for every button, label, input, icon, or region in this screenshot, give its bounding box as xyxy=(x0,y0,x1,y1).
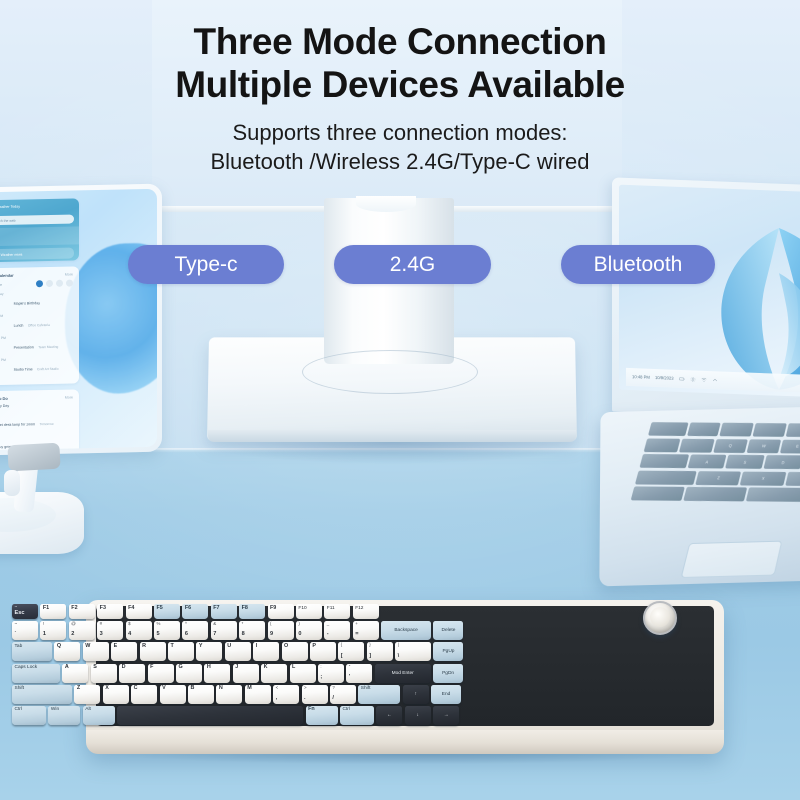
calendar-event-row[interactable]: 2:30 PM Presentation Team Meeting xyxy=(0,334,73,354)
calendar-widget-header: Calendar More xyxy=(0,271,73,278)
keycap-label: ↑ xyxy=(414,692,416,697)
keycap-label: → xyxy=(444,713,449,718)
weather-widget-title: Weather Today xyxy=(0,203,74,209)
keycap-3[interactable]: #3 xyxy=(97,621,123,640)
keycap-label: Shift xyxy=(15,686,25,691)
taskbar-clock[interactable]: 10:48 PM xyxy=(632,374,650,380)
keyboard-row-qwerty-row: TabQWERTYUIOP{[}]|\PgUp xyxy=(12,642,632,661)
keycap-label: G xyxy=(178,665,182,671)
calendar-widget[interactable]: Calendar More October All day xyxy=(0,266,79,385)
calendar-event-row[interactable]: 12 PM Lunch Office Cafeteria xyxy=(0,312,73,332)
volume-knob-inner xyxy=(650,607,670,627)
pill-2-4g[interactable]: 2.4G xyxy=(334,245,491,284)
keycap-secondary-legend: } xyxy=(369,643,370,648)
keycap-label: F2 xyxy=(71,606,77,612)
keycap-f9[interactable]: F9 xyxy=(268,604,294,619)
keycap-primary-legend: 4 xyxy=(128,632,131,638)
keycap-tab[interactable]: Tab xyxy=(12,642,52,661)
keycap-f7[interactable]: F7 xyxy=(211,604,237,619)
keycap-[interactable]: += xyxy=(353,621,379,640)
keycap-label: F5 xyxy=(156,606,162,612)
headline-block: Three Mode Connection Multiple Devices A… xyxy=(0,20,800,176)
keycap-secondary-legend: { xyxy=(341,643,342,648)
keycap-label: F1 xyxy=(43,606,49,612)
keycap-primary-legend: 3 xyxy=(100,632,103,638)
keycap-primary-legend: . xyxy=(304,696,306,702)
keycap-p[interactable]: P xyxy=(310,642,336,661)
keycap-r[interactable]: R xyxy=(140,642,166,661)
calendar-more-label[interactable]: More xyxy=(65,272,73,276)
keycap-secondary-legend: _ xyxy=(327,622,329,627)
keycap-ctrl[interactable]: Ctrl xyxy=(12,706,46,725)
keycap-l[interactable]: L xyxy=(290,664,316,683)
keycap-g[interactable]: G xyxy=(176,664,202,683)
show-hidden-icons-icon[interactable] xyxy=(712,377,718,383)
keycap-primary-legend: ] xyxy=(369,654,371,660)
keycap-primary-legend: 9 xyxy=(270,632,273,638)
todo-list-name: My Day xyxy=(0,404,9,409)
keycap-label: ↓ xyxy=(417,713,419,718)
todo-item-due: Tomorrow xyxy=(40,422,54,426)
laptop-key[interactable] xyxy=(746,487,800,501)
keycap-primary-legend: / xyxy=(332,696,334,702)
todo-widget-title: To Do xyxy=(0,395,62,401)
keycap-m[interactable]: M xyxy=(245,685,271,704)
laptop-key-row xyxy=(631,486,800,502)
keycap-win[interactable]: Win xyxy=(48,706,80,725)
keycap-[interactable]: ← xyxy=(376,706,402,725)
keycap-[interactable]: ~` xyxy=(12,621,38,640)
keycap-2[interactable]: @2 xyxy=(69,621,95,640)
event-time: 12 PM xyxy=(0,314,11,319)
todo-item[interactable]: Get desk lamp for zoom Tomorrow xyxy=(0,411,73,431)
laptop-key[interactable] xyxy=(679,438,714,452)
keycap-primary-legend: = xyxy=(355,632,358,638)
keyboard-row-shift-row: ShiftZXCVBNM<,>.?/Shift↑End xyxy=(12,685,632,704)
keycap-primary-legend: - xyxy=(327,632,329,638)
keycap-label: Ctrl xyxy=(342,707,349,712)
event-name: Presentation xyxy=(14,345,34,349)
keycap-label: Q xyxy=(57,644,61,650)
keycap-secondary-legend: ~ xyxy=(15,605,18,610)
keycap-label: M xyxy=(247,686,252,692)
laptop-key[interactable] xyxy=(644,438,681,452)
widgets-panel: Weather Today Search the web More Weathe… xyxy=(0,198,79,451)
keycap-esc[interactable]: ~Esc xyxy=(12,604,38,619)
keycap-f5[interactable]: F5 xyxy=(154,604,180,619)
keyboard-row-bottom-row: CtrlWinAltFnCtrl←↓→ xyxy=(12,706,632,725)
settings-icon[interactable] xyxy=(690,376,696,382)
laptop-key[interactable] xyxy=(720,423,754,437)
keycap-secondary-legend: % xyxy=(156,622,160,627)
keycap-label: P xyxy=(312,644,316,650)
keycap-label: R xyxy=(142,644,146,650)
keycap-label: A xyxy=(65,665,69,671)
keycap-[interactable]: <, xyxy=(273,685,299,704)
keycap-x[interactable]: X xyxy=(103,685,129,704)
web-search-input[interactable]: Search the web xyxy=(0,214,74,225)
laptop-screen: 10:48 PM 10/8/2023 xyxy=(619,185,800,399)
laptop-touchpad[interactable] xyxy=(681,541,783,578)
subhead-line-2: Bluetooth /Wireless 2.4G/Type-C wired xyxy=(0,147,800,176)
keycap-f8[interactable]: F8 xyxy=(239,604,265,619)
keycap-b[interactable]: B xyxy=(188,685,214,704)
monitor-column-highlight xyxy=(356,196,416,212)
keycap-i[interactable]: I xyxy=(253,642,279,661)
keycap-primary-legend: \ xyxy=(398,654,400,660)
keycap-primary-legend: 7 xyxy=(213,632,216,638)
laptop-base: Q W E R T A S D F G Z X C V xyxy=(599,406,800,587)
calendar-widget-title: Calendar xyxy=(0,272,62,278)
keycap-c[interactable]: C xyxy=(131,685,157,704)
tablet-device: Weather Today Search the web More Weathe… xyxy=(0,184,162,457)
keycap-5[interactable]: %5 xyxy=(154,621,180,640)
keycap-label: Win xyxy=(51,707,59,712)
keycap-primary-legend: 2 xyxy=(71,632,74,638)
tablet-screen: Weather Today Search the web More Weathe… xyxy=(0,189,157,452)
keycap-label: ← xyxy=(387,713,392,718)
event-name: Lunch xyxy=(14,324,24,328)
event-text: Presentation Team Meeting xyxy=(14,334,73,353)
laptop-key[interactable]: C xyxy=(785,471,800,485)
keycap-backspace[interactable]: Backspace xyxy=(381,621,431,640)
keycap-primary-legend: Esc xyxy=(15,611,25,617)
laptop-key[interactable] xyxy=(639,454,688,468)
keycap-label: F8 xyxy=(242,606,248,612)
keycap-label: F4 xyxy=(128,606,134,612)
keyboard-front-bezel xyxy=(86,730,724,754)
keycap-label: PgUp xyxy=(442,649,454,654)
keycap-1[interactable]: !1 xyxy=(40,621,66,640)
todo-widget[interactable]: To Do More My Day Get desk lamp for zoom… xyxy=(0,389,79,451)
keycap-q[interactable]: Q xyxy=(54,642,80,661)
todo-widget-header: To Do More xyxy=(0,394,73,401)
keycap-e[interactable]: E xyxy=(111,642,137,661)
event-sub: Craft Art Studio xyxy=(37,367,59,371)
keycap-label: End xyxy=(442,692,451,697)
pill-bluetooth[interactable]: Bluetooth xyxy=(561,245,715,284)
keycap-primary-legend: 5 xyxy=(156,632,159,638)
keycap-[interactable]: ↓ xyxy=(405,706,431,725)
keycap-label: Backspace xyxy=(394,628,417,633)
laptop-key[interactable]: D xyxy=(763,455,800,469)
calendar-day[interactable] xyxy=(66,279,73,286)
keycap-[interactable]: _- xyxy=(324,621,350,640)
laptop-keyboard[interactable]: Q W E R T A S D F G Z X C V xyxy=(622,422,800,535)
keycap-f12[interactable]: F12 xyxy=(353,604,379,619)
calendar-date-strip: October xyxy=(0,279,73,288)
keycap-alt[interactable]: Alt xyxy=(83,706,115,725)
event-name: Maple's Birthday xyxy=(14,301,40,306)
keycap-label: N xyxy=(219,686,223,692)
keycap-label: K xyxy=(264,665,268,671)
keycap-secondary-legend: ( xyxy=(270,622,271,627)
keycap-primary-legend: ' xyxy=(349,675,350,681)
product-marketing-image: Weather Today Search the web More Weathe… xyxy=(0,0,800,800)
keycap-primary-legend: , xyxy=(276,696,278,702)
keycap-w[interactable]: W xyxy=(83,642,109,661)
tablet-stand-clip xyxy=(4,470,20,496)
weather-widget-header: Weather Today xyxy=(0,198,79,214)
keycap-label: F xyxy=(150,665,153,671)
keycap-primary-legend: [ xyxy=(341,654,343,660)
keycap-[interactable]: :; xyxy=(318,664,344,683)
keyboard-row-function-row: ~EscF1F2F3F4F5F6F7F8F9F10F11F12 xyxy=(12,604,632,619)
keycap-label: W xyxy=(85,644,90,650)
keycap-label: F12 xyxy=(355,606,363,611)
event-text: Maple's Birthday xyxy=(14,290,73,309)
laptop-key[interactable]: A xyxy=(687,454,726,468)
keycap-[interactable]: }] xyxy=(367,642,393,661)
keycap-f11[interactable]: F11 xyxy=(324,604,350,619)
laptop-key[interactable]: E xyxy=(780,439,800,453)
keycap-secondary-legend: ~ xyxy=(15,622,18,627)
keycap-secondary-legend: ) xyxy=(298,622,299,627)
event-time: 2:30 PM xyxy=(0,336,11,341)
keycap-shift[interactable]: Shift xyxy=(358,685,400,704)
keycap-pgdn[interactable]: PgDn xyxy=(433,664,463,683)
calendar-day[interactable] xyxy=(46,280,53,287)
keycap-label: J xyxy=(235,665,238,671)
monitor-base-ring xyxy=(302,350,478,394)
keycap-primary-legend: 1 xyxy=(43,632,46,638)
keycap-secondary-legend: ! xyxy=(43,622,44,627)
laptop-key[interactable]: Q xyxy=(713,439,748,453)
keycap-secondary-legend: ? xyxy=(332,686,334,691)
todo-more-label[interactable]: More xyxy=(65,395,73,399)
keycap-ctrl[interactable]: Ctrl xyxy=(340,706,374,725)
keycap-shift[interactable]: Shift xyxy=(12,685,72,704)
keycap-k[interactable]: K xyxy=(261,664,287,683)
event-time: 5:45 PM xyxy=(0,358,11,363)
keycap-v[interactable]: V xyxy=(160,685,186,704)
laptop-key-row xyxy=(648,422,800,438)
keycap-[interactable]: |\ xyxy=(395,642,431,661)
keycap-label: E xyxy=(114,644,118,650)
event-text: Studio Time Craft Art Studio xyxy=(14,356,73,375)
keycap-delete[interactable]: Delete xyxy=(433,621,463,640)
keycap-o[interactable]: O xyxy=(282,642,308,661)
keycap-secondary-legend: " xyxy=(349,665,351,670)
keycap-d[interactable]: D xyxy=(119,664,145,683)
weather-widget[interactable]: Weather Today Search the web More Weathe… xyxy=(0,198,79,262)
keycap-f3[interactable]: F3 xyxy=(97,604,123,619)
keycap-secondary-legend: * xyxy=(242,622,244,627)
keycap-j[interactable]: J xyxy=(233,664,259,683)
keycap-label: T xyxy=(170,644,173,650)
keycap-primary-legend: ` xyxy=(15,632,17,638)
keycap-s[interactable]: S xyxy=(91,664,117,683)
calendar-event-row[interactable]: All day Maple's Birthday xyxy=(0,290,73,310)
keycap-[interactable]: ↑ xyxy=(403,685,429,704)
mechanical-keyboard-keys[interactable]: ~EscF1F2F3F4F5F6F7F8F9F10F11F12~`!1@2#3$… xyxy=(12,604,632,728)
laptop-key[interactable]: Z xyxy=(696,471,742,485)
keycap-label: H xyxy=(207,665,211,671)
todo-list-name-row: My Day xyxy=(0,402,73,409)
taskbar-date[interactable]: 10/8/2023 xyxy=(655,375,674,381)
event-time: All day xyxy=(0,292,11,297)
laptop-lid: 10:48 PM 10/8/2023 xyxy=(612,177,800,420)
keycap-secondary-legend: + xyxy=(355,622,358,627)
keycap-caps-lock[interactable]: Caps Lock xyxy=(12,664,60,683)
keycap-label: Z xyxy=(77,686,80,692)
keycap-secondary-legend: | xyxy=(398,643,399,648)
keycap-label: C xyxy=(134,686,138,692)
keycap-h[interactable]: H xyxy=(204,664,230,683)
keyboard-row-number-row: ~`!1@2#3$4%5^6&7*8(9)0_-+=BackspaceDelet… xyxy=(12,621,632,640)
pill-type-c[interactable]: Type-c xyxy=(128,245,284,284)
todo-item-text: Get desk lamp for zoom Tomorrow xyxy=(0,411,73,431)
keycap-fn[interactable]: Fn xyxy=(306,706,338,725)
keycap-label: V xyxy=(162,686,166,692)
tablet-stand-head xyxy=(7,443,60,472)
event-text: Lunch Office Cafeteria xyxy=(14,312,73,331)
keycap-u[interactable]: U xyxy=(225,642,251,661)
keycap-primary-legend: 8 xyxy=(242,632,245,638)
keycap-label: B xyxy=(190,686,194,692)
keycap-secondary-legend: > xyxy=(304,686,307,691)
laptop-key[interactable] xyxy=(635,470,697,484)
keycap-9[interactable]: (9 xyxy=(268,621,294,640)
laptop-key[interactable] xyxy=(683,487,747,501)
keycap-8[interactable]: *8 xyxy=(239,621,265,640)
keycap-secondary-legend: & xyxy=(213,622,216,627)
keycap-label: Alt xyxy=(85,707,91,712)
todo-item-title: Get desk lamp for zoom xyxy=(0,422,35,427)
keycap-pgup[interactable]: PgUp xyxy=(433,642,463,661)
keycap-4[interactable]: $4 xyxy=(126,621,152,640)
keycap-end[interactable]: End xyxy=(431,685,461,704)
keycap-y[interactable]: Y xyxy=(196,642,222,661)
keycap-[interactable]: "' xyxy=(346,664,372,683)
subhead-line-1: Supports three connection modes: xyxy=(0,118,800,147)
keycap-label: Shift xyxy=(361,686,371,691)
keycap-[interactable]: → xyxy=(433,706,459,725)
event-sub: Office Cafeteria xyxy=(28,323,50,327)
monitor-base-front-edge xyxy=(208,430,576,442)
keycap-[interactable]: ?/ xyxy=(330,685,356,704)
calendar-month-label: October xyxy=(0,282,33,287)
keycap-6[interactable]: ^6 xyxy=(182,621,208,640)
keycap-f6[interactable]: F6 xyxy=(182,604,208,619)
keycap-label: Y xyxy=(199,644,203,650)
keycap-label: F6 xyxy=(185,606,191,612)
laptop-key-row: Z X C V xyxy=(635,470,800,486)
keycap-label: Caps Lock xyxy=(15,665,38,670)
wifi-icon[interactable] xyxy=(701,377,707,383)
keycap-label: F10 xyxy=(298,606,306,611)
battery-icon[interactable] xyxy=(679,376,685,382)
keycap-label: F11 xyxy=(327,606,335,611)
keycap-label: Ctrl xyxy=(15,707,22,712)
weather-illustration xyxy=(0,226,79,246)
event-sub: Team Meeting xyxy=(38,345,58,349)
keycap-label: Tab xyxy=(15,644,23,649)
keycap-label: PgDn xyxy=(442,671,454,676)
calendar-day-selected[interactable] xyxy=(36,280,43,287)
keycap-secondary-legend: @ xyxy=(71,622,75,627)
keycap-primary-legend: ; xyxy=(320,675,322,681)
keycap-f1[interactable]: F1 xyxy=(40,604,66,619)
keycap-secondary-legend: < xyxy=(276,686,279,691)
keycap-a[interactable]: A xyxy=(62,664,88,683)
keycap-[interactable]: {[ xyxy=(338,642,364,661)
laptop-key[interactable] xyxy=(648,422,688,436)
keycap-n[interactable]: N xyxy=(216,685,242,704)
keycap-label: F3 xyxy=(100,606,106,612)
keycap-spacebar[interactable] xyxy=(117,706,303,725)
keycap-mod-enter[interactable]: Mod Enter xyxy=(375,664,431,683)
keycap-label: Mod Enter xyxy=(392,671,414,676)
calendar-event-row[interactable]: 5:45 PM Studio Time Craft Art Studio xyxy=(0,356,73,376)
keycap-label: Delete xyxy=(442,628,456,633)
keycap-7[interactable]: &7 xyxy=(211,621,237,640)
keycap-f[interactable]: F xyxy=(148,664,174,683)
keycap-0[interactable]: )0 xyxy=(296,621,322,640)
keycap-label: F9 xyxy=(270,606,276,612)
keycap-f4[interactable]: F4 xyxy=(126,604,152,619)
headline-line-1: Three Mode Connection xyxy=(0,20,800,63)
laptop-key[interactable]: X xyxy=(740,471,786,485)
headline-line-2: Multiple Devices Available xyxy=(0,63,800,106)
event-name: Studio Time xyxy=(14,367,33,371)
keycap-secondary-legend: : xyxy=(320,665,321,670)
keycap-label: X xyxy=(105,686,109,692)
keycap-t[interactable]: T xyxy=(168,642,194,661)
keycap-secondary-legend: # xyxy=(100,622,102,627)
keycap-[interactable]: >. xyxy=(302,685,328,704)
keycap-f2[interactable]: F2 xyxy=(69,604,95,619)
laptop-key-row: Q W E R T xyxy=(644,438,800,454)
volume-knob[interactable] xyxy=(643,601,677,635)
laptop-key[interactable] xyxy=(687,422,721,436)
keycap-label: S xyxy=(93,665,97,671)
keycap-primary-legend: 6 xyxy=(185,632,188,638)
keycap-label: F7 xyxy=(213,606,219,612)
laptop-key[interactable]: W xyxy=(747,439,782,453)
keycap-label: D xyxy=(122,665,126,671)
laptop-key[interactable] xyxy=(631,486,685,500)
keycap-f10[interactable]: F10 xyxy=(296,604,322,619)
keycap-label: Fn xyxy=(308,707,315,713)
keycap-secondary-legend: ^ xyxy=(185,622,187,627)
laptop-key[interactable]: S xyxy=(725,455,764,469)
keycap-secondary-legend: $ xyxy=(128,622,130,627)
keycap-label: L xyxy=(292,665,295,671)
laptop-key-row: A S D F G xyxy=(639,454,800,470)
keycap-label: I xyxy=(256,644,258,650)
laptop-key[interactable] xyxy=(786,423,800,437)
keyboard-row-home-row: Caps LockASDFGHJKL:;"'Mod EnterPgDn xyxy=(12,664,632,683)
laptop-key[interactable] xyxy=(753,423,787,437)
keycap-label: O xyxy=(284,644,288,650)
keycap-label: U xyxy=(227,644,231,650)
calendar-day[interactable] xyxy=(56,280,63,287)
keycap-z[interactable]: Z xyxy=(74,685,100,704)
keycap-primary-legend: 0 xyxy=(298,632,301,638)
weather-news-link[interactable]: More Weather news xyxy=(0,247,74,260)
